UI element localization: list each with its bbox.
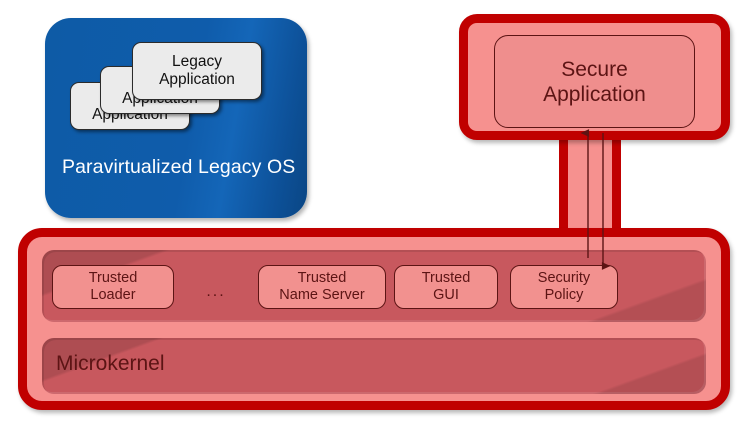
service-line1: Trusted <box>279 270 364 287</box>
trusted-service-trusted-loader[interactable]: Trusted Loader <box>52 265 174 309</box>
service-line1: Security <box>538 270 590 287</box>
legacy-app-line2: Application <box>159 71 235 89</box>
secure-app-stem-left-edge <box>559 133 568 237</box>
service-line1: Trusted <box>89 270 138 287</box>
legacy-application-card[interactable]: Legacy Application <box>132 42 262 100</box>
secure-app-stem-fill <box>568 133 612 237</box>
services-ellipsis: ... <box>196 283 236 301</box>
trusted-service-trusted-name-server[interactable]: Trusted Name Server <box>258 265 386 309</box>
microkernel-label: Microkernel <box>56 352 165 376</box>
legacy-app-line1: Legacy <box>159 53 235 71</box>
trusted-service-trusted-gui[interactable]: Trusted GUI <box>394 265 498 309</box>
trusted-service-security-policy[interactable]: Security Policy <box>510 265 618 309</box>
service-line2: Policy <box>538 287 590 304</box>
diagram-canvas: Legacy Application Legacy Application Le… <box>0 0 750 426</box>
service-line2: Loader <box>89 287 138 304</box>
service-line2: Name Server <box>279 287 364 304</box>
secure-app-stem-right-edge <box>612 133 621 237</box>
legacy-os-label: Paravirtualized Legacy OS <box>62 156 295 179</box>
service-line2: GUI <box>422 287 471 304</box>
secure-application-box[interactable]: Secure Application <box>494 35 695 128</box>
service-line1: Trusted <box>422 270 471 287</box>
secure-app-line1: Secure <box>543 57 646 82</box>
secure-app-line2: Application <box>543 82 646 107</box>
